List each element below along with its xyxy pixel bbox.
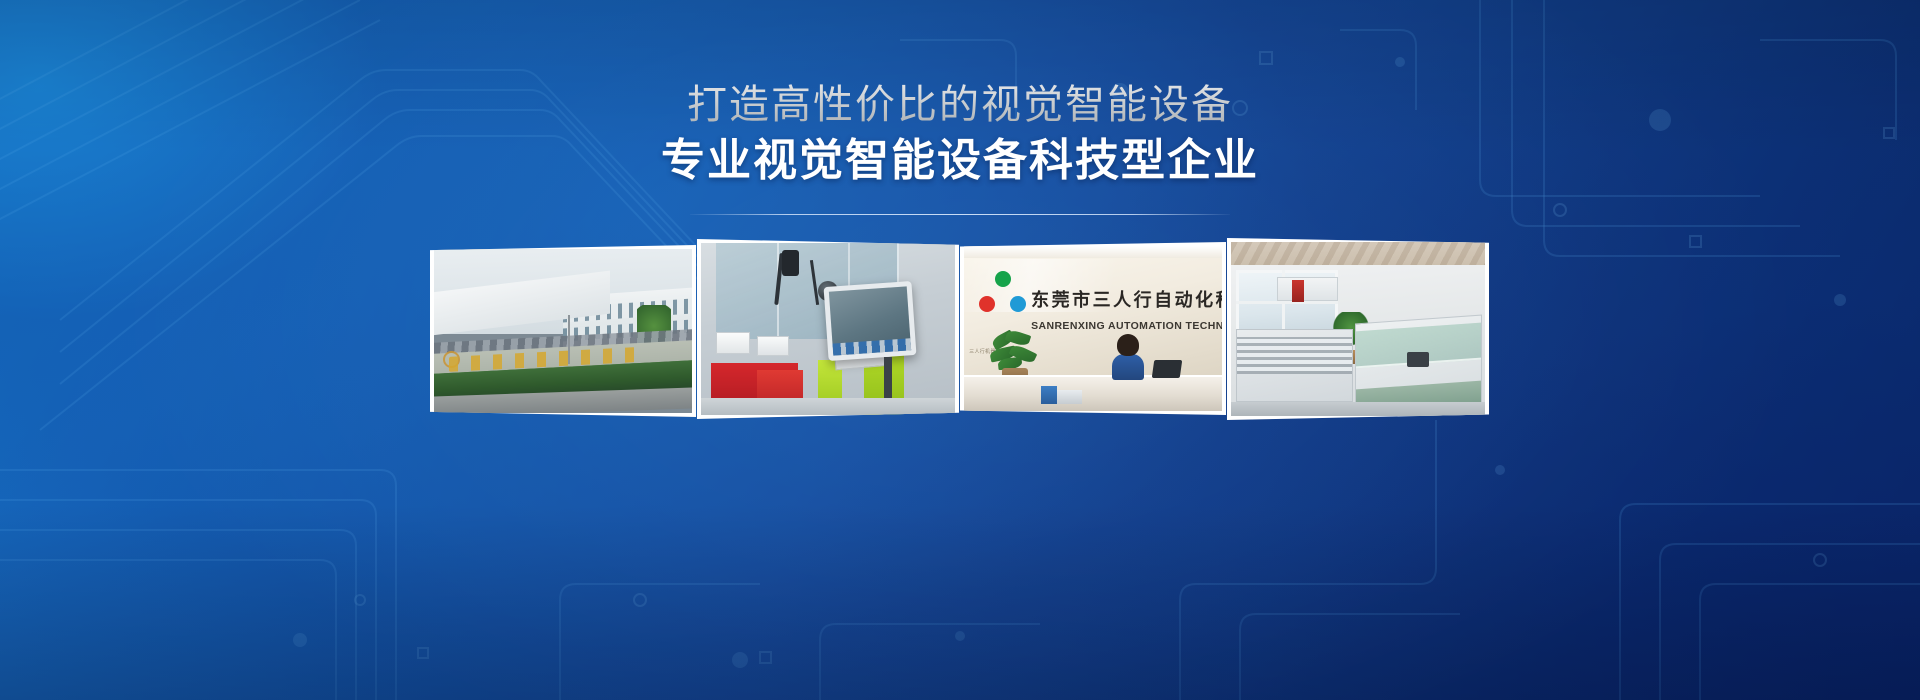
laboratory-equipment-photo xyxy=(701,243,955,415)
gallery-panel-factory-entrance[interactable] xyxy=(430,245,696,417)
company-name-english: SANRENXING AUTOMATION TECHNOLOG xyxy=(1031,320,1222,332)
headline-divider xyxy=(690,214,1230,215)
reception-lobby-photo: 三人行机器人公司 东莞市三人行自动化科技有 SANRENXING AUTOMAT… xyxy=(964,246,1222,411)
headline-block: 打造高性价比的视觉智能设备 专业视觉智能设备科技型企业 xyxy=(0,82,1920,215)
gallery-panel-office[interactable] xyxy=(1227,238,1489,420)
hero-banner: 打造高性价比的视觉智能设备 专业视觉智能设备科技型企业 xyxy=(0,0,1920,700)
gallery-panel-laboratory[interactable] xyxy=(697,239,959,419)
company-name-chinese: 东莞市三人行自动化科技有 xyxy=(1031,286,1222,312)
banner-subtitle: 打造高性价比的视觉智能设备 xyxy=(0,82,1920,129)
gallery-panel-reception[interactable]: 三人行机器人公司 东莞市三人行自动化科技有 SANRENXING AUTOMAT… xyxy=(960,242,1226,415)
photo-gallery: 三人行机器人公司 东莞市三人行自动化科技有 SANRENXING AUTOMAT… xyxy=(430,238,1490,420)
office-workspace-photo xyxy=(1231,242,1485,416)
factory-entrance-photo xyxy=(434,249,692,413)
company-logo-icon xyxy=(974,266,1032,324)
banner-title: 专业视觉智能设备科技型企业 xyxy=(0,135,1920,188)
